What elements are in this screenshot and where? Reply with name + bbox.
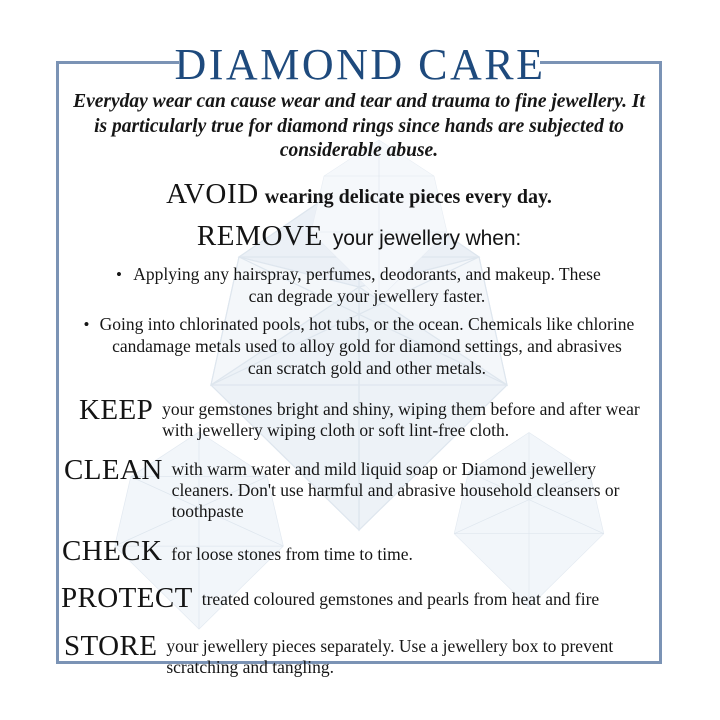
section-clean: CLEAN with warm water and mild liquid so… bbox=[59, 455, 659, 522]
remove-line: REMOVEyour jewellery when: bbox=[59, 220, 659, 253]
section-text-check: for loose stones from time to time. bbox=[162, 536, 659, 565]
frame-border-right bbox=[659, 61, 662, 664]
avoid-line: AVOIDwearing delicate pieces every day. bbox=[59, 178, 659, 211]
section-text-protect: treated coloured gemstones and pearls fr… bbox=[193, 583, 659, 610]
list-item-text: Applying any hairspray, perfumes, deodor… bbox=[132, 263, 602, 307]
section-text-keep: your gemstones bright and shiny, wiping … bbox=[153, 395, 659, 441]
bullet-dot-icon: • bbox=[116, 263, 122, 286]
section-text-clean: with warm water and mild liquid soap or … bbox=[163, 455, 659, 522]
remove-bullet-list: • Applying any hairspray, perfumes, deod… bbox=[59, 263, 659, 379]
section-keyword-clean: CLEAN bbox=[64, 455, 163, 485]
page-title: DIAMOND CARE bbox=[0, 42, 720, 88]
intro-paragraph: Everyday wear can cause wear and tear an… bbox=[59, 90, 659, 164]
care-instruction-list: KEEP your gemstones bright and shiny, wi… bbox=[59, 395, 659, 678]
remove-text: your jewellery when: bbox=[333, 227, 521, 250]
list-item: • Going into chlorinated pools, hot tubs… bbox=[59, 313, 659, 379]
list-item: • Applying any hairspray, perfumes, deod… bbox=[59, 263, 659, 307]
section-keyword-check: CHECK bbox=[62, 536, 162, 566]
section-keep: KEEP your gemstones bright and shiny, wi… bbox=[59, 395, 659, 441]
section-text-store: your jewellery pieces separately. Use a … bbox=[157, 631, 659, 678]
diamond-care-poster: DIAMOND CARE Everyday wear can cause wea… bbox=[0, 0, 720, 720]
section-keyword-protect: PROTECT bbox=[61, 583, 193, 613]
content-column: Everyday wear can cause wear and tear an… bbox=[59, 88, 659, 678]
avoid-keyword: AVOID bbox=[166, 178, 259, 210]
section-keyword-store: STORE bbox=[64, 631, 157, 661]
bullet-dot-icon: • bbox=[84, 313, 90, 336]
remove-keyword: REMOVE bbox=[197, 220, 323, 252]
list-item-text: Going into chlorinated pools, hot tubs, … bbox=[99, 313, 634, 379]
avoid-text: wearing delicate pieces every day. bbox=[265, 186, 552, 208]
section-protect: PROTECT treated coloured gemstones and p… bbox=[59, 583, 659, 613]
section-store: STORE your jewellery pieces separately. … bbox=[59, 631, 659, 678]
section-check: CHECK for loose stones from time to time… bbox=[59, 536, 659, 566]
section-keyword-keep: KEEP bbox=[79, 395, 153, 425]
